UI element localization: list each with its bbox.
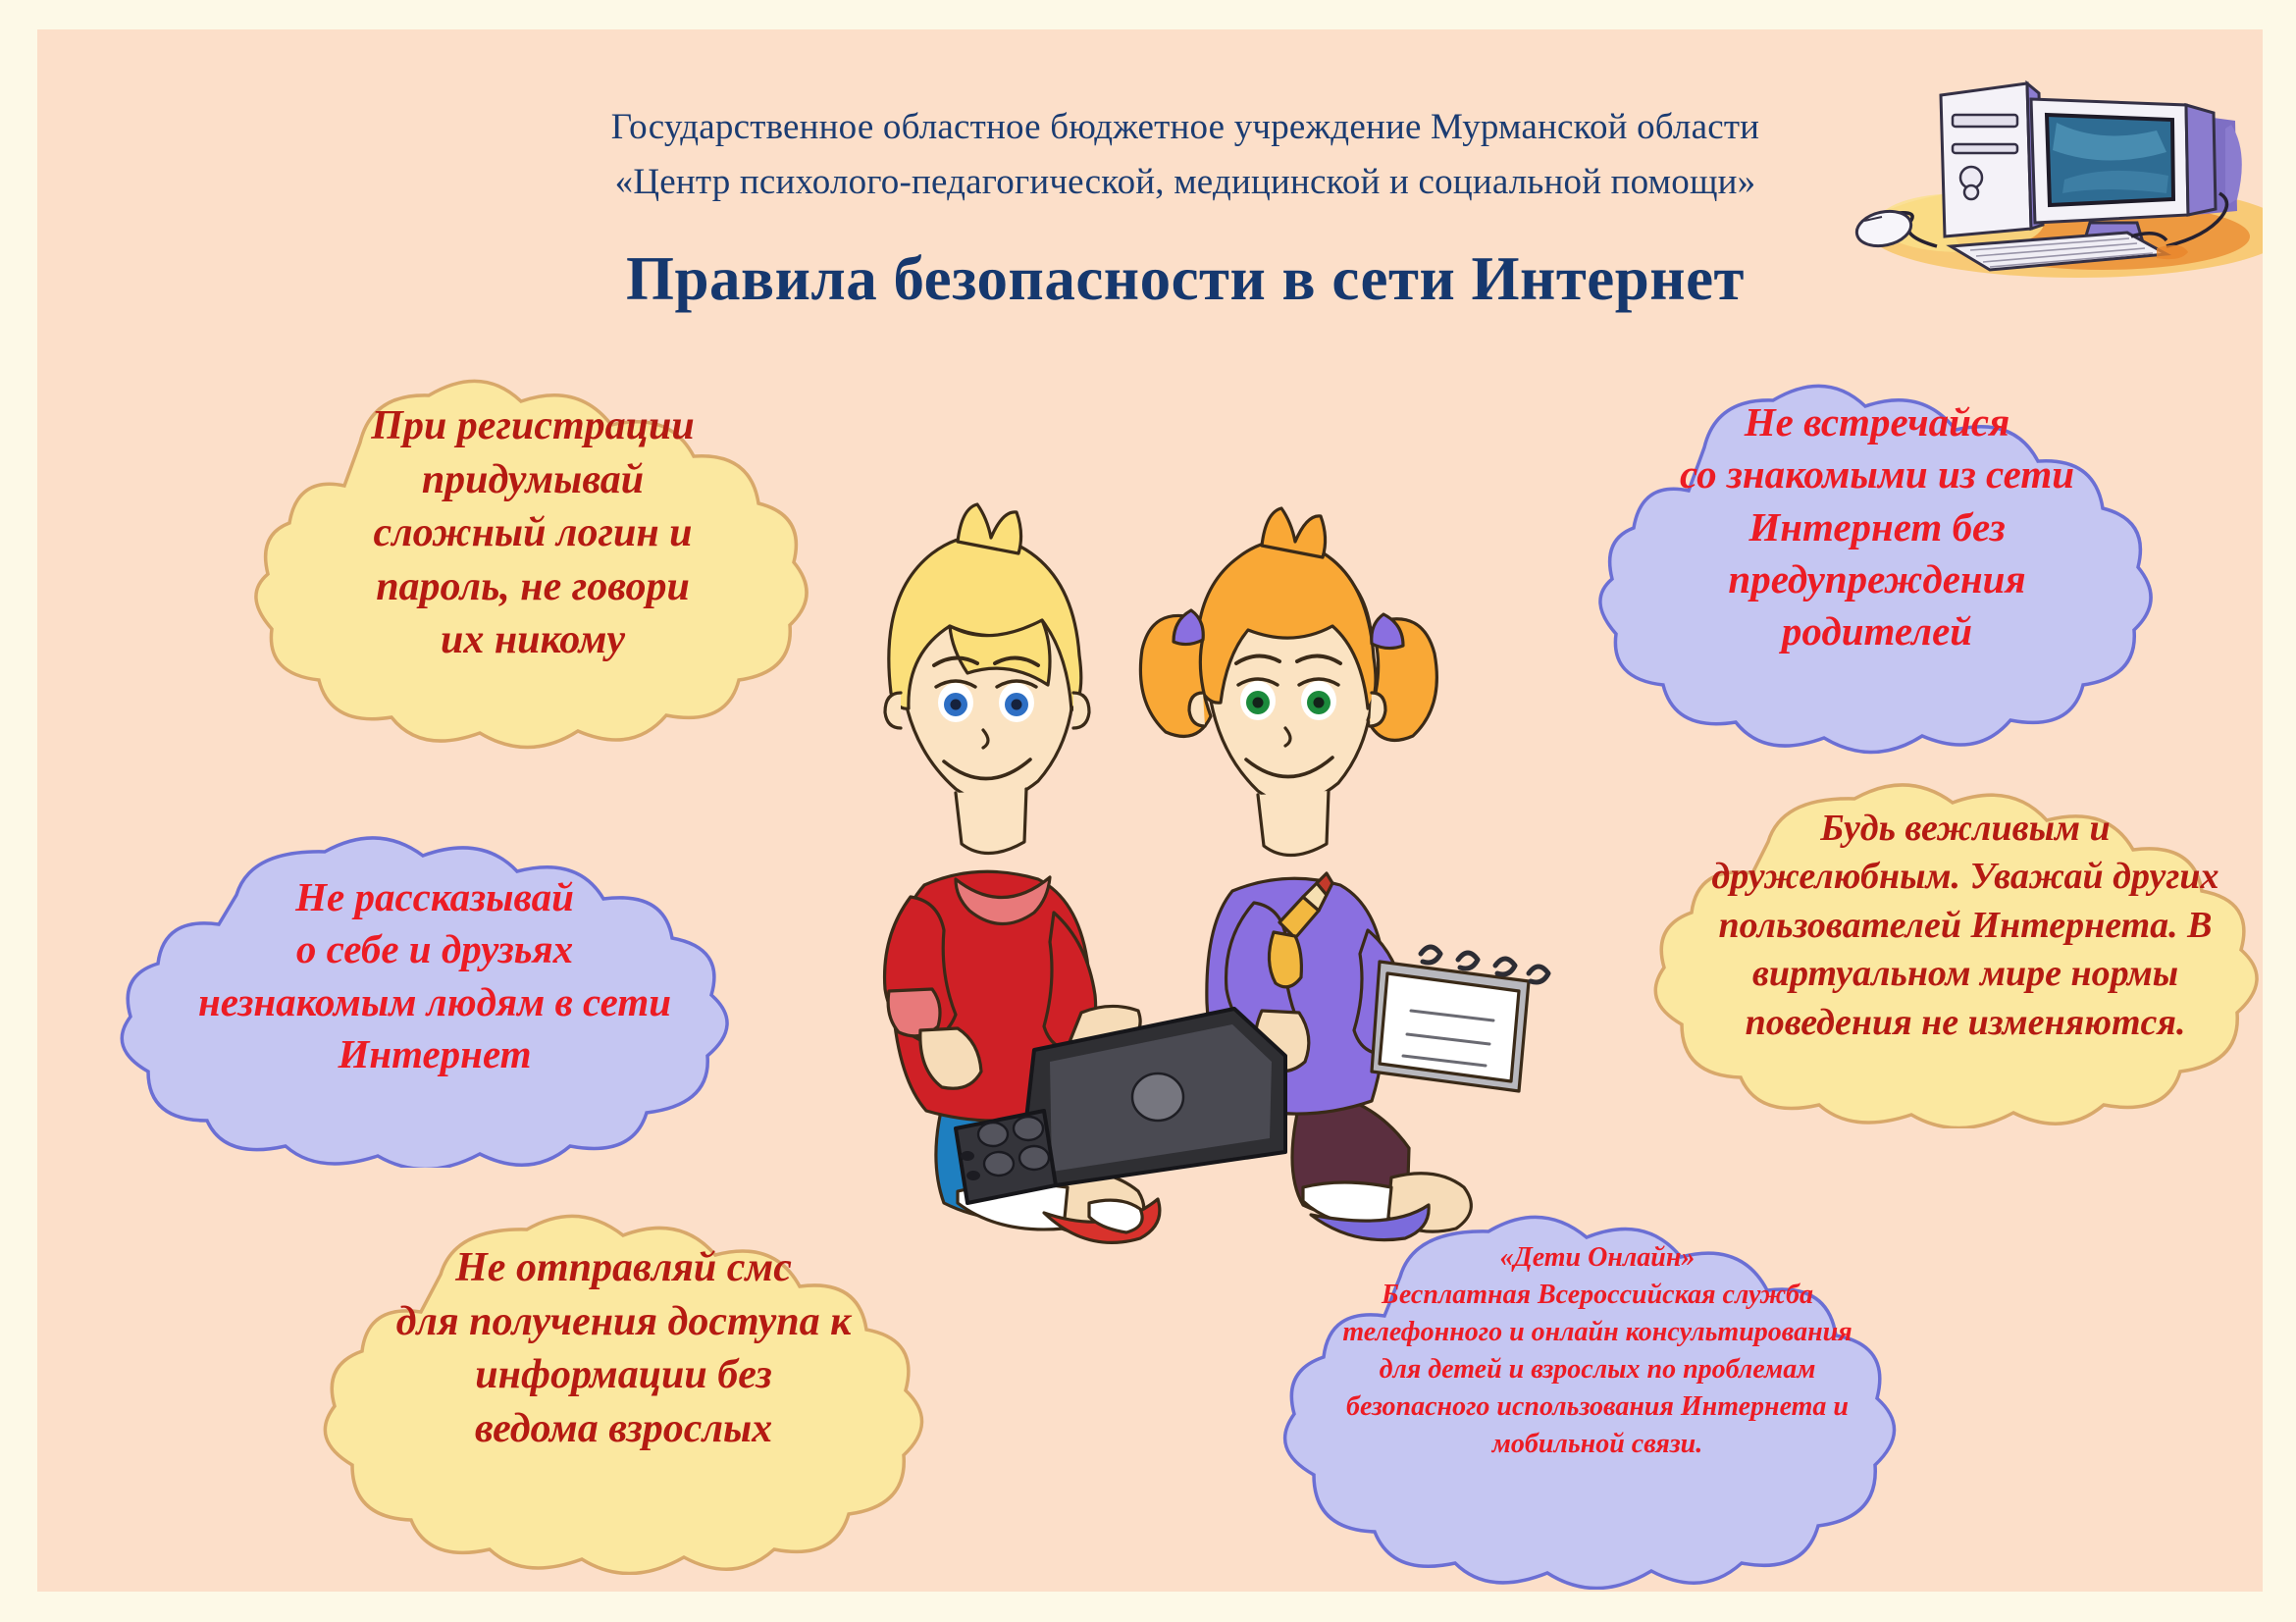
rule-no-meeting-strangers-cloud: Не встречайся со знакомыми из сети Интер…: [1573, 343, 2181, 765]
rule-be-polite-cloud: Будь вежливым и дружелюбным. Уважай друг…: [1627, 756, 2263, 1128]
organization-line-1: Государственное областное бюджетное учре…: [528, 100, 1843, 155]
rule-strong-password-text: При регистрации придумывай сложный логин…: [229, 399, 837, 667]
rule-no-personal-info-text: Не рассказывай о себе и друзьях незнаком…: [91, 871, 778, 1080]
rule-no-meeting-strangers-text: Не встречайся со знакомыми из сети Интер…: [1573, 396, 2181, 657]
organization-name: Государственное областное бюджетное учре…: [528, 100, 1843, 209]
organization-line-2: «Центр психолого-педагогической, медицин…: [528, 155, 1843, 210]
rule-strong-password-cloud: При регистрации придумывай сложный логин…: [229, 339, 837, 760]
desktop-computer-icon: [1843, 54, 2263, 280]
rule-be-polite-text: Будь вежливым и дружелюбным. Уважай друг…: [1627, 805, 2263, 1047]
poster-root: Государственное областное бюджетное учре…: [0, 0, 2296, 1622]
page-title: Правила безопасности в сети Интернет: [449, 243, 1921, 315]
two-children-with-laptop-illustration: [842, 500, 1607, 1305]
rule-no-personal-info-cloud: Не рассказывай о себе и друзьях незнаком…: [91, 814, 778, 1168]
poster-canvas: Государственное областное бюджетное учре…: [37, 29, 2263, 1592]
